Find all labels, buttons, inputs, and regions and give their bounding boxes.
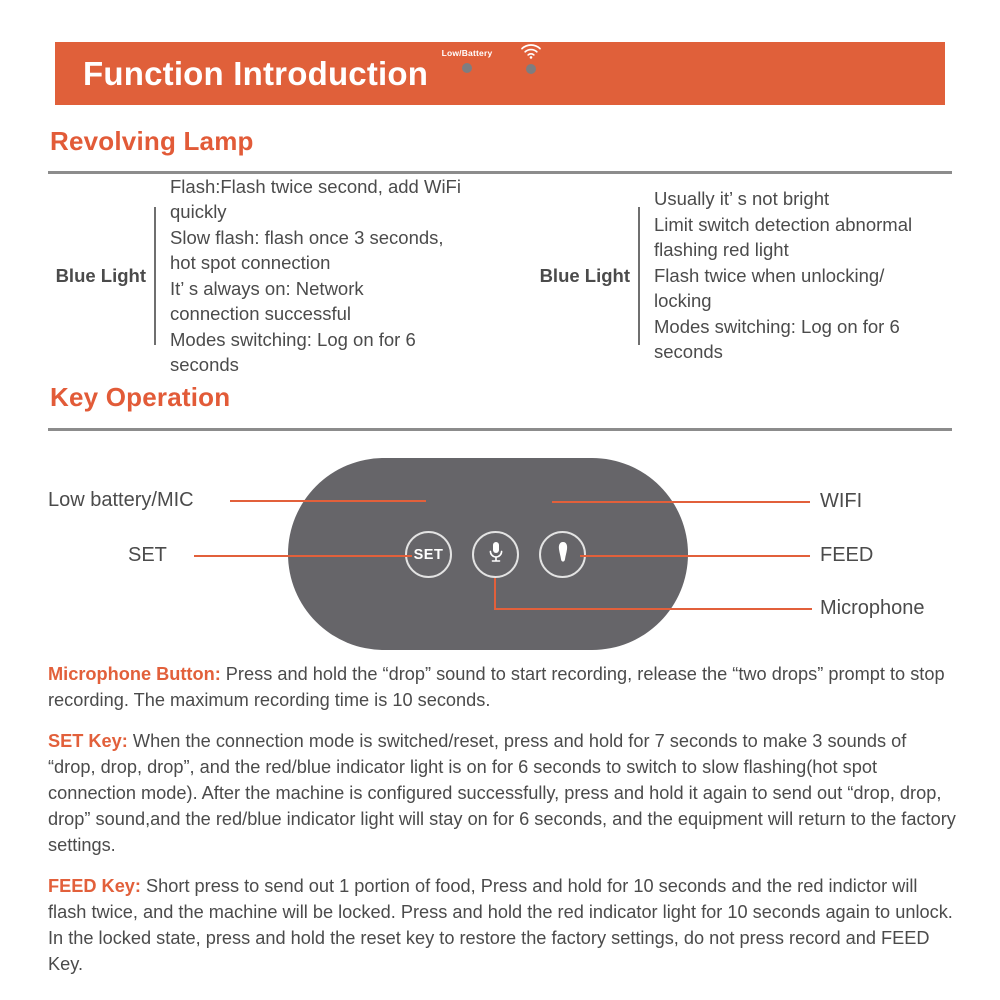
- microphone-button[interactable]: [472, 531, 519, 578]
- spec-lines-right: Usually it’ s not bright Limit switch de…: [654, 186, 912, 365]
- set-button-label: SET: [414, 547, 444, 563]
- callout-line-set: [194, 555, 412, 557]
- wifi-icon: [508, 44, 554, 59]
- spec-line: flashing red light: [654, 237, 912, 263]
- callout-label-set: SET: [128, 544, 167, 567]
- spec-line: Modes switching: Log on for 6: [170, 327, 461, 353]
- spec-label-blue-light-left: Blue Light: [48, 265, 154, 287]
- callout-line-microphone-vertical: [494, 578, 496, 610]
- callout-label-low-battery-mic: Low battery/MIC: [48, 489, 194, 512]
- spec-line: Slow flash: flash once 3 seconds,: [170, 225, 461, 251]
- led-indicator-low-battery: Low/Battery: [435, 48, 499, 73]
- spec-line: Flash twice when unlocking/: [654, 263, 912, 289]
- callout-label-microphone: Microphone: [820, 597, 925, 620]
- paragraph-term: SET Key:: [48, 731, 128, 751]
- spec-line: seconds: [654, 339, 912, 365]
- table-row: Blue Light Flash:Flash twice second, add…: [48, 183, 520, 368]
- column-divider: [638, 207, 640, 345]
- spec-label-blue-light-right: Blue Light: [520, 265, 638, 287]
- divider-key-operation: [48, 428, 952, 431]
- led-dot-icon: [462, 63, 472, 73]
- feed-button[interactable]: [539, 531, 586, 578]
- paragraph-set-key: SET Key: When the connection mode is swi…: [48, 728, 956, 858]
- callout-line-microphone-horizontal: [494, 608, 812, 610]
- key-operation-descriptions: Microphone Button: Press and hold the “d…: [48, 661, 956, 992]
- set-button[interactable]: SET: [405, 531, 452, 578]
- section-heading-key-operation: Key Operation: [50, 382, 230, 413]
- spec-line: hot spot connection: [170, 250, 461, 276]
- spec-line: It’ s always on: Network: [170, 276, 461, 302]
- section-heading-revolving-lamp: Revolving Lamp: [50, 126, 254, 157]
- spec-line: Modes switching: Log on for 6: [654, 314, 912, 340]
- page-title: Function Introduction: [83, 55, 428, 93]
- paragraph-microphone-button: Microphone Button: Press and hold the “d…: [48, 661, 956, 713]
- spec-line: Limit switch detection abnormal: [654, 212, 912, 238]
- paragraph-term: FEED Key:: [48, 876, 141, 896]
- callout-label-feed: FEED: [820, 544, 873, 567]
- callout-line-wifi: [552, 501, 810, 503]
- spec-line: quickly: [170, 199, 461, 225]
- led-dot-icon: [526, 64, 536, 74]
- microphone-icon: [486, 539, 506, 570]
- paragraph-body: Short press to send out 1 portion of foo…: [48, 876, 953, 974]
- led-indicator-wifi: [508, 44, 554, 74]
- spec-line: connection successful: [170, 301, 461, 327]
- led-caption-low-battery: Low/Battery: [435, 48, 499, 58]
- spec-line: Usually it’ s not bright: [654, 186, 912, 212]
- table-row: Blue Light Usually it’ s not bright Limi…: [520, 183, 952, 368]
- spec-lines-left: Flash:Flash twice second, add WiFi quick…: [170, 174, 461, 378]
- food-drop-icon: [553, 539, 573, 570]
- paragraph-term: Microphone Button:: [48, 664, 221, 684]
- callout-label-wifi: WIFI: [820, 490, 862, 513]
- revolving-lamp-table: Blue Light Flash:Flash twice second, add…: [48, 183, 952, 368]
- header-banner: Function Introduction: [55, 42, 945, 105]
- paragraph-feed-key: FEED Key: Short press to send out 1 port…: [48, 873, 956, 977]
- spec-line: seconds: [170, 352, 461, 378]
- paragraph-body: When the connection mode is switched/res…: [48, 731, 956, 855]
- spec-line: Flash:Flash twice second, add WiFi: [170, 174, 461, 200]
- spec-line: locking: [654, 288, 912, 314]
- column-divider: [154, 207, 156, 345]
- callout-line-low-battery: [230, 500, 426, 502]
- callout-line-feed: [580, 555, 810, 557]
